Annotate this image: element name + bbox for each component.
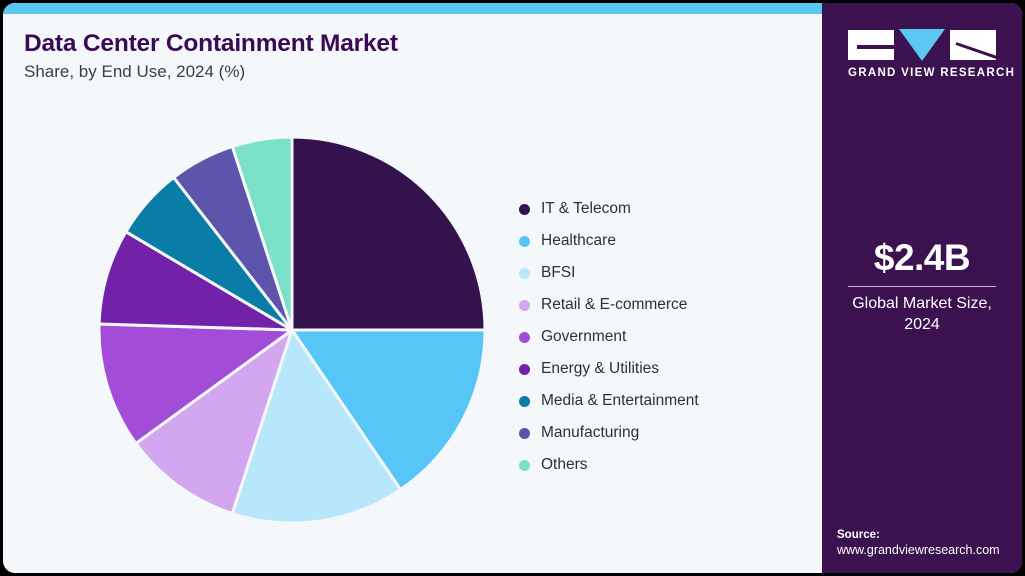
logo-r-icon [950,30,996,60]
page-title: Data Center Containment Market [24,30,398,58]
logo-g-icon [848,30,894,60]
pie-slice[interactable] [292,137,485,330]
market-size-label: Global Market Size, 2024 [822,294,1022,335]
legend-item[interactable]: Media & Entertainment [519,385,809,417]
logo-marks [848,29,996,61]
source-block: Source: www.grandviewresearch.com [837,529,1017,557]
legend-label: Others [541,456,588,474]
chart-legend: IT & TelecomHealthcareBFSIRetail & E-com… [519,193,809,481]
legend-swatch-icon [519,332,530,343]
market-size-value: $2.4B [822,239,1022,278]
legend-item[interactable]: IT & Telecom [519,193,809,225]
legend-label: Retail & E-commerce [541,296,687,314]
legend-item[interactable]: Government [519,321,809,353]
legend-swatch-icon [519,396,530,407]
legend-item[interactable]: Healthcare [519,225,809,257]
legend-item[interactable]: Manufacturing [519,417,809,449]
legend-item[interactable]: BFSI [519,257,809,289]
legend-swatch-icon [519,428,530,439]
source-url[interactable]: www.grandviewresearch.com [837,543,1017,557]
gvr-logo: GRAND VIEW RESEARCH [848,29,996,79]
legend-swatch-icon [519,364,530,375]
logo-wordmark: GRAND VIEW RESEARCH [848,67,996,79]
legend-label: Media & Entertainment [541,392,699,410]
legend-item[interactable]: Others [519,449,809,481]
legend-label: BFSI [541,264,575,282]
market-size-stat: $2.4B Global Market Size, 2024 [822,239,1022,335]
legend-label: IT & Telecom [541,200,631,218]
legend-swatch-icon [519,300,530,311]
legend-label: Government [541,328,626,346]
logo-v-triangle-icon [899,29,945,61]
legend-item[interactable]: Retail & E-commerce [519,289,809,321]
legend-swatch-icon [519,204,530,215]
legend-item[interactable]: Energy & Utilities [519,353,809,385]
brand-sidebar: GRAND VIEW RESEARCH $2.4B Global Market … [822,3,1022,573]
legend-label: Manufacturing [541,424,639,442]
legend-swatch-icon [519,460,530,471]
pie-slice-group [99,137,485,523]
stat-divider [848,286,996,288]
chart-frame: Data Center Containment Market Share, by… [0,0,1025,576]
source-title: Source: [837,529,1017,541]
legend-label: Healthcare [541,232,616,250]
page-subtitle: Share, by End Use, 2024 (%) [24,62,245,82]
legend-swatch-icon [519,236,530,247]
legend-label: Energy & Utilities [541,360,659,378]
legend-swatch-icon [519,268,530,279]
